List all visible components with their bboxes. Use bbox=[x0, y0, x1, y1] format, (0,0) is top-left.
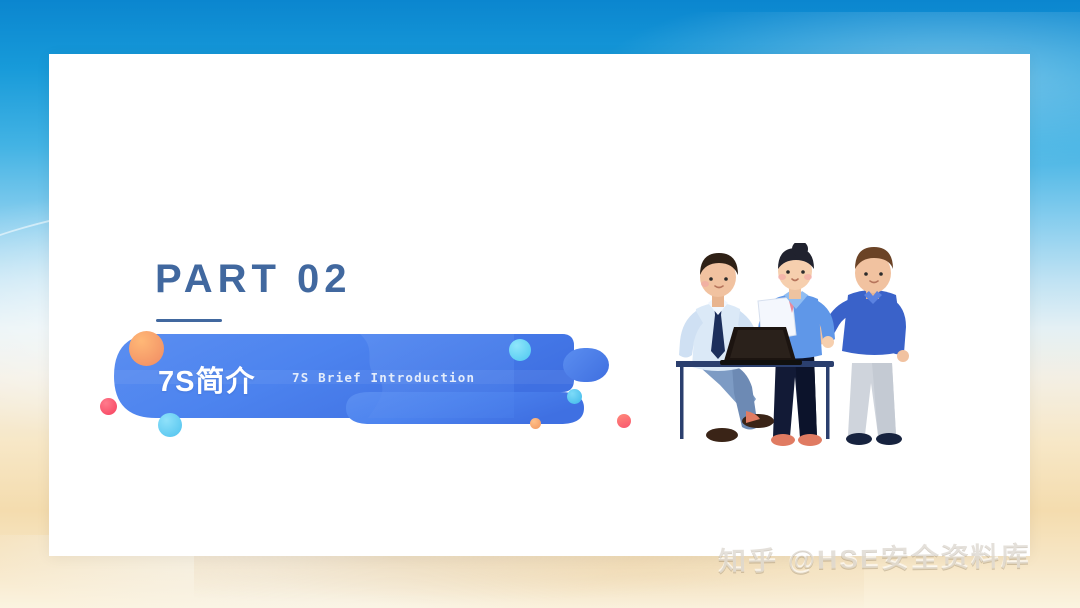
cyan-circle-banner-top-icon bbox=[509, 339, 531, 361]
cyan-dot-small-icon bbox=[567, 389, 582, 404]
illustration-three-business-people bbox=[676, 243, 934, 464]
section-title-banner: 7S简介 7S Brief Introduction bbox=[110, 330, 630, 440]
part-heading-underline bbox=[156, 319, 222, 322]
orange-circle-large-icon bbox=[129, 331, 164, 366]
section-title-chinese: 7S简介 bbox=[158, 358, 255, 400]
cyan-circle-medium-icon bbox=[158, 413, 182, 437]
indigo-blob-icon bbox=[563, 348, 609, 382]
pink-dot-right-icon bbox=[617, 414, 631, 428]
section-title-english: 7S Brief Introduction bbox=[292, 370, 475, 385]
figure-standing-man-waving bbox=[808, 247, 909, 445]
part-number-heading: PART 02 bbox=[155, 259, 352, 299]
watermark-text: 知乎 @HSE安全资料库 bbox=[718, 534, 1031, 579]
orange-dot-tiny-icon bbox=[530, 418, 541, 429]
presentation-slide-screenshot: PART 02 bbox=[0, 0, 1080, 608]
